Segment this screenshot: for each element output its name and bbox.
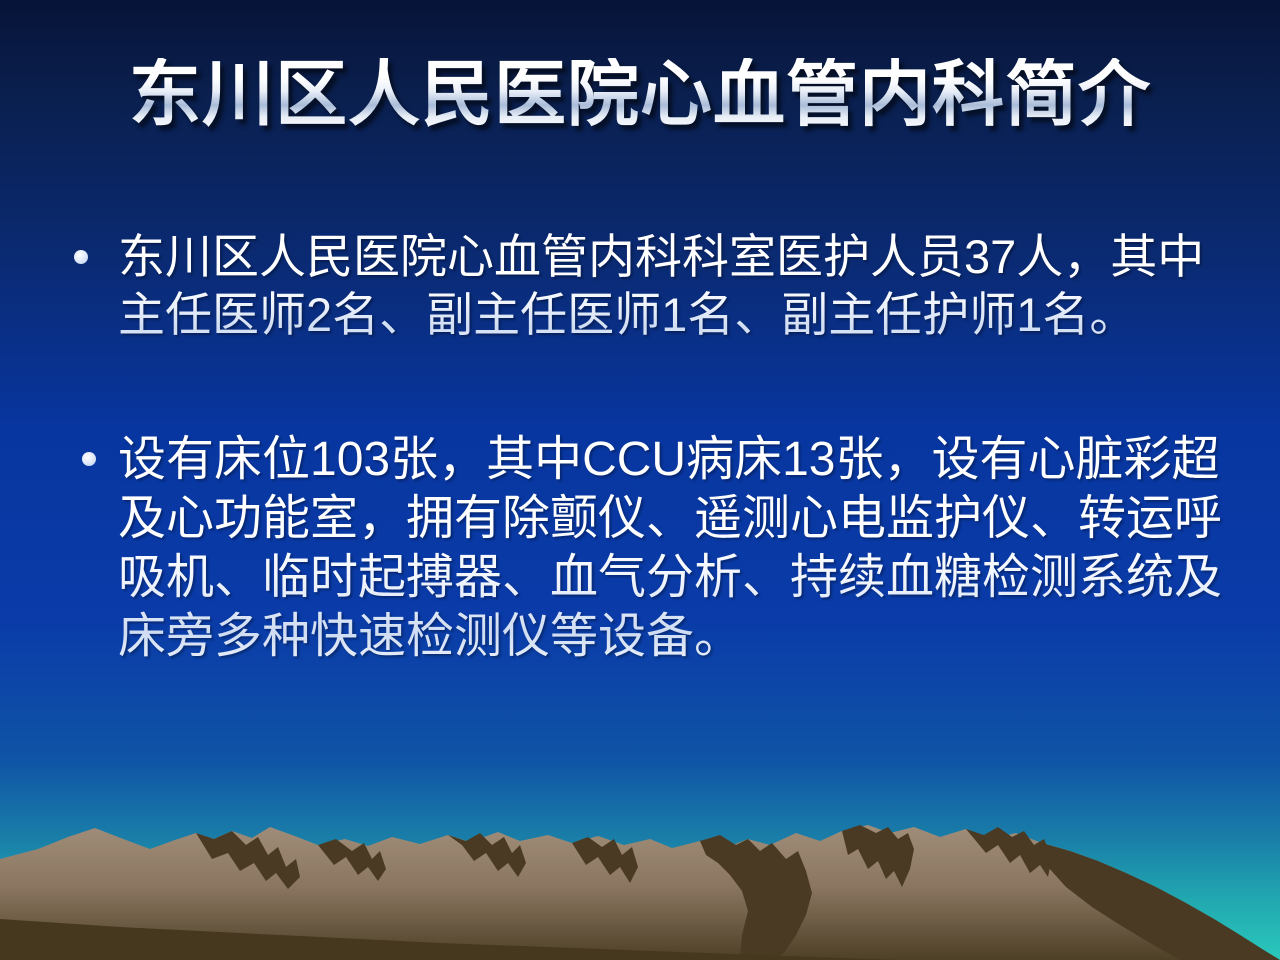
bullet-text-1: 东川区人民医院心血管内科科室医护人员37人，其中主任医师2名、副主任医师1名、副… [118,228,1222,344]
bullet-text-2: 设有床位103张，其中CCU病床13张，设有心脏彩超及心功能室，拥有除颤仪、遥测… [118,430,1222,666]
list-item: 设有床位103张，其中CCU病床13张，设有心脏彩超及心功能室，拥有除颤仪、遥测… [62,430,1222,666]
slide-title: 东川区人民医院心血管内科简介 [0,58,1280,134]
bullet-dot-icon [74,250,88,264]
mountain-silhouette-graphic [0,815,1280,960]
bullet-marker [62,228,118,264]
bullet-marker [62,430,118,466]
list-item: 东川区人民医院心血管内科科室医护人员37人，其中主任医师2名、副主任医师1名、副… [62,228,1222,344]
presentation-slide: 东川区人民医院心血管内科简介 东川区人民医院心血管内科科室医护人员37人，其中主… [0,0,1280,960]
bullet-dot-icon [82,452,96,466]
slide-body: 东川区人民医院心血管内科科室医护人员37人，其中主任医师2名、副主任医师1名、副… [62,228,1222,666]
